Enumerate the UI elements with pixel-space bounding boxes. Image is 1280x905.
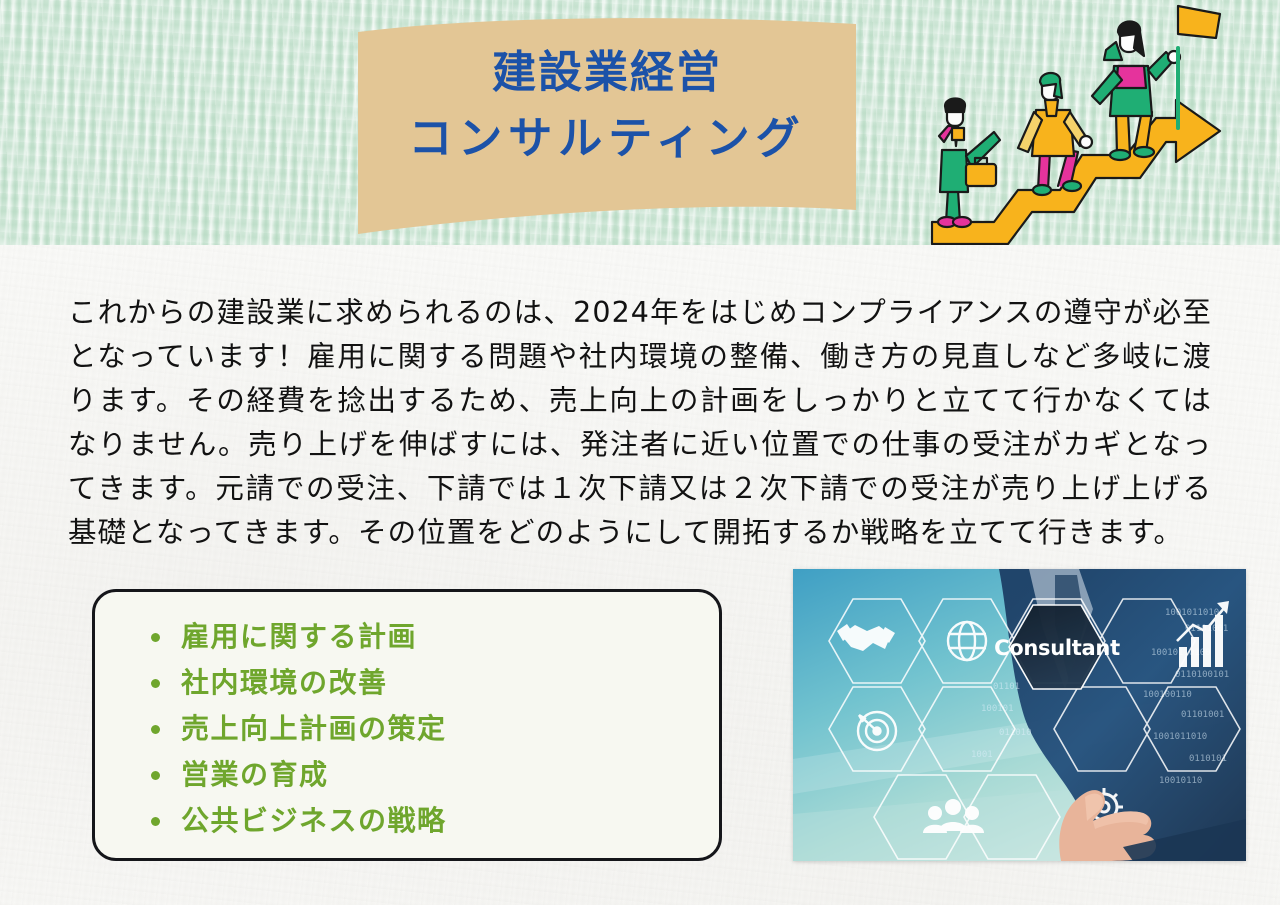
bullet-dot-icon (151, 633, 160, 642)
svg-text:01101: 01101 (993, 682, 1020, 692)
bullet-dot-icon (151, 725, 160, 734)
svg-text:1001011010: 1001011010 (1153, 732, 1207, 742)
list-item-label: 売上向上計画の策定 (181, 712, 447, 745)
list-item-label: 公共ビジネスの戦略 (181, 804, 447, 837)
services-card: 雇用に関する計画 社内環境の改善 売上向上計画の策定 営業の育成 公共ビジネスの… (92, 589, 722, 861)
bullet-dot-icon (151, 679, 160, 688)
svg-text:100100110: 100100110 (1143, 690, 1192, 700)
consultant-photo: 1001011010 01101001 10010110100 01101001… (793, 569, 1246, 861)
list-item: 公共ビジネスの戦略 (147, 798, 719, 844)
svg-text:100101: 100101 (981, 704, 1014, 714)
list-item-label: 社内環境の改善 (181, 666, 388, 699)
header-band: 建設業経営コンサルティング (0, 0, 1280, 245)
services-list: 雇用に関する計画 社内環境の改善 売上向上計画の策定 営業の育成 公共ビジネスの… (95, 592, 719, 844)
list-item: 営業の育成 (147, 752, 719, 798)
hero-illustration (890, 0, 1280, 245)
page-title-line2: コンサルティング (352, 106, 862, 172)
svg-text:1001011010: 1001011010 (1165, 608, 1219, 618)
list-item-label: 雇用に関する計画 (181, 620, 417, 653)
poster-page: 建設業経営コンサルティング (0, 0, 1280, 905)
list-item: 社内環境の改善 (147, 660, 719, 706)
bullet-dot-icon (151, 817, 160, 826)
person-lowest (938, 99, 1000, 228)
list-item: 売上向上計画の策定 (147, 706, 719, 752)
list-item: 雇用に関する計画 (147, 614, 719, 660)
list-item-label: 営業の育成 (181, 758, 329, 791)
svg-text:10010110: 10010110 (1159, 776, 1202, 786)
consultant-photo-graphic: 1001011010 01101001 10010110100 01101001… (793, 569, 1246, 861)
svg-text:0110100101: 0110100101 (1175, 670, 1229, 680)
intro-paragraph: これからの建設業に求められるのは、2024年をはじめコンプライアンスの遵守が必至… (68, 291, 1212, 555)
bullet-dot-icon (151, 771, 160, 780)
title-banner: 建設業経営コンサルティング (352, 14, 862, 242)
growth-arrow-illustration (890, 0, 1280, 245)
page-title: 建設業経営コンサルティング (352, 40, 862, 172)
svg-text:1001: 1001 (971, 750, 993, 760)
svg-text:01101001: 01101001 (1181, 710, 1224, 720)
consultant-label: Consultant (994, 636, 1120, 660)
page-title-line1: 建設業経営 (492, 47, 722, 98)
